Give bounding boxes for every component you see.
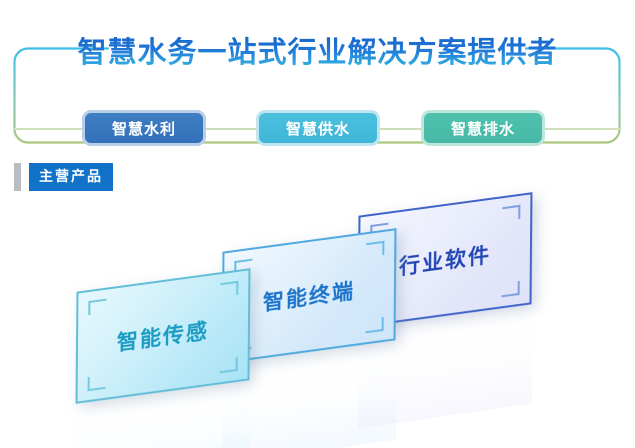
page-title: 智慧水务一站式行业解决方案提供者 [0, 34, 635, 70]
badge-label: 智慧排水 [451, 118, 515, 139]
product-card-group: 行业软件 智能终端 智能传感 [0, 196, 635, 448]
section-spacer [21, 163, 29, 191]
badge-label: 智慧供水 [286, 118, 350, 139]
section-accent-bar [14, 163, 21, 191]
badge-smart-water-supply[interactable]: 智慧供水 [256, 110, 380, 146]
card-label: 智能传感 [76, 268, 251, 404]
badge-smart-drainage[interactable]: 智慧排水 [421, 110, 545, 146]
section-header-main-products: 主营产品 [14, 163, 113, 191]
slide-canvas: 智慧水务一站式行业解决方案提供者 智慧水利 智慧供水 智慧排水 主营产品 [0, 0, 635, 448]
badge-row: 智慧水利 智慧供水 智慧排水 [0, 110, 635, 148]
badge-smart-water-conservancy[interactable]: 智慧水利 [82, 110, 206, 146]
product-card-smart-sensing[interactable]: 智能传感 [76, 268, 251, 404]
section-title-chip: 主营产品 [29, 163, 113, 191]
badge-label: 智慧水利 [112, 118, 176, 139]
